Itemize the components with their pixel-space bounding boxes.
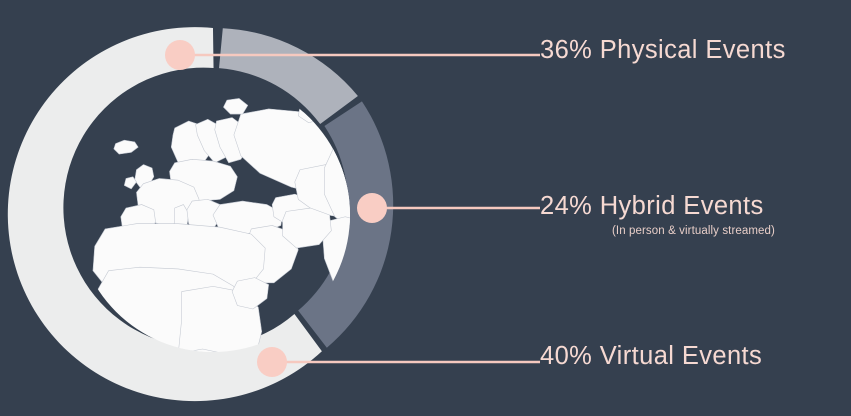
legend-label-physical: 36% Physical Events — [540, 36, 851, 64]
legend-label-hybrid: 24% Hybrid Events — [540, 192, 851, 220]
legend-item-virtual[interactable]: 40% Virtual Events — [540, 342, 851, 370]
donut-chart-svg — [0, 0, 560, 416]
donut-infographic: 36% Physical Events 24% Hybrid Events (I… — [0, 0, 851, 416]
marker-dot-physical[interactable] — [165, 40, 195, 70]
legend-item-hybrid[interactable]: 24% Hybrid Events (In person & virtually… — [540, 192, 851, 237]
legend-sublabel-hybrid: (In person & virtually streamed) — [540, 225, 851, 237]
legend-item-physical[interactable]: 36% Physical Events — [540, 36, 851, 64]
marker-dot-virtual[interactable] — [257, 347, 287, 377]
legend-label-virtual: 40% Virtual Events — [540, 342, 851, 370]
marker-dot-hybrid[interactable] — [357, 193, 387, 223]
donut-chart-area — [0, 0, 430, 416]
legend: 36% Physical Events 24% Hybrid Events (I… — [540, 0, 851, 416]
